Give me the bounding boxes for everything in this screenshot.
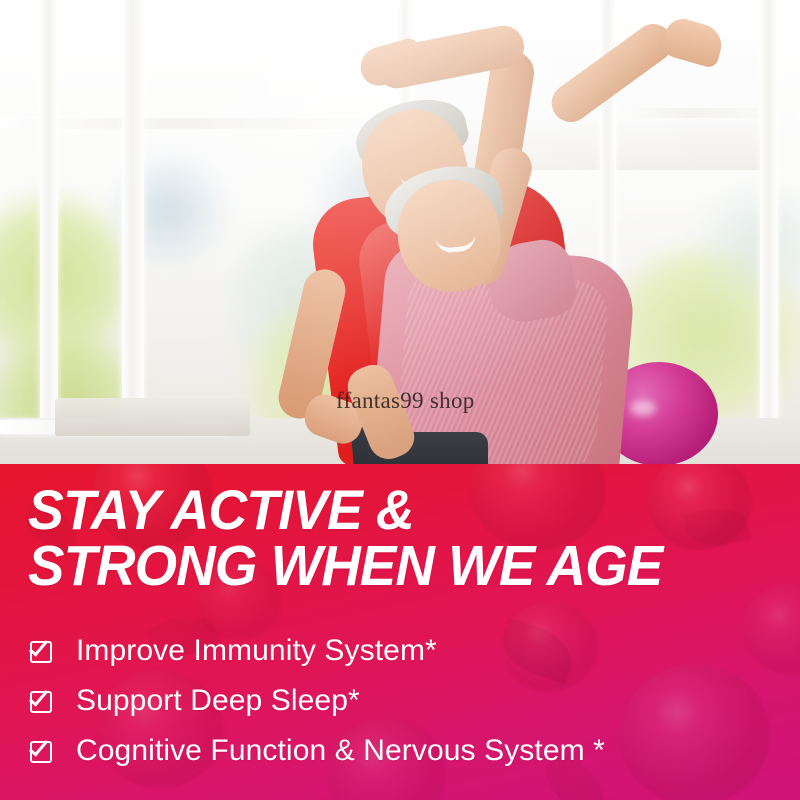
woman-raised-arm xyxy=(544,16,680,129)
checkbox-checked-icon xyxy=(30,638,56,664)
bench xyxy=(55,398,250,436)
list-item: Support Deep Sleep* xyxy=(30,676,790,726)
checkbox-checked-icon xyxy=(30,688,56,714)
benefit-label: Cognitive Function & Nervous System * xyxy=(76,734,605,768)
product-banner-poster: ffantas99 shop STAY ACTIVE & STRONG WHEN… xyxy=(0,0,800,800)
benefit-label: Improve Immunity System* xyxy=(76,634,437,668)
list-item: Improve Immunity System* xyxy=(30,626,790,676)
headline-line-2: STRONG WHEN WE AGE xyxy=(28,538,758,594)
list-item: Cognitive Function & Nervous System * xyxy=(30,726,790,776)
window-frame-vertical xyxy=(760,0,778,468)
headline-line-1: STAY ACTIVE & xyxy=(28,482,758,538)
watermark: ffantas99 shop xyxy=(336,388,475,414)
checkbox-checked-icon xyxy=(30,738,56,764)
benefit-label: Support Deep Sleep* xyxy=(76,684,360,718)
benefits-list: Improve Immunity System* Support Deep Sl… xyxy=(30,626,790,776)
headline: STAY ACTIVE & STRONG WHEN WE AGE xyxy=(28,482,758,594)
